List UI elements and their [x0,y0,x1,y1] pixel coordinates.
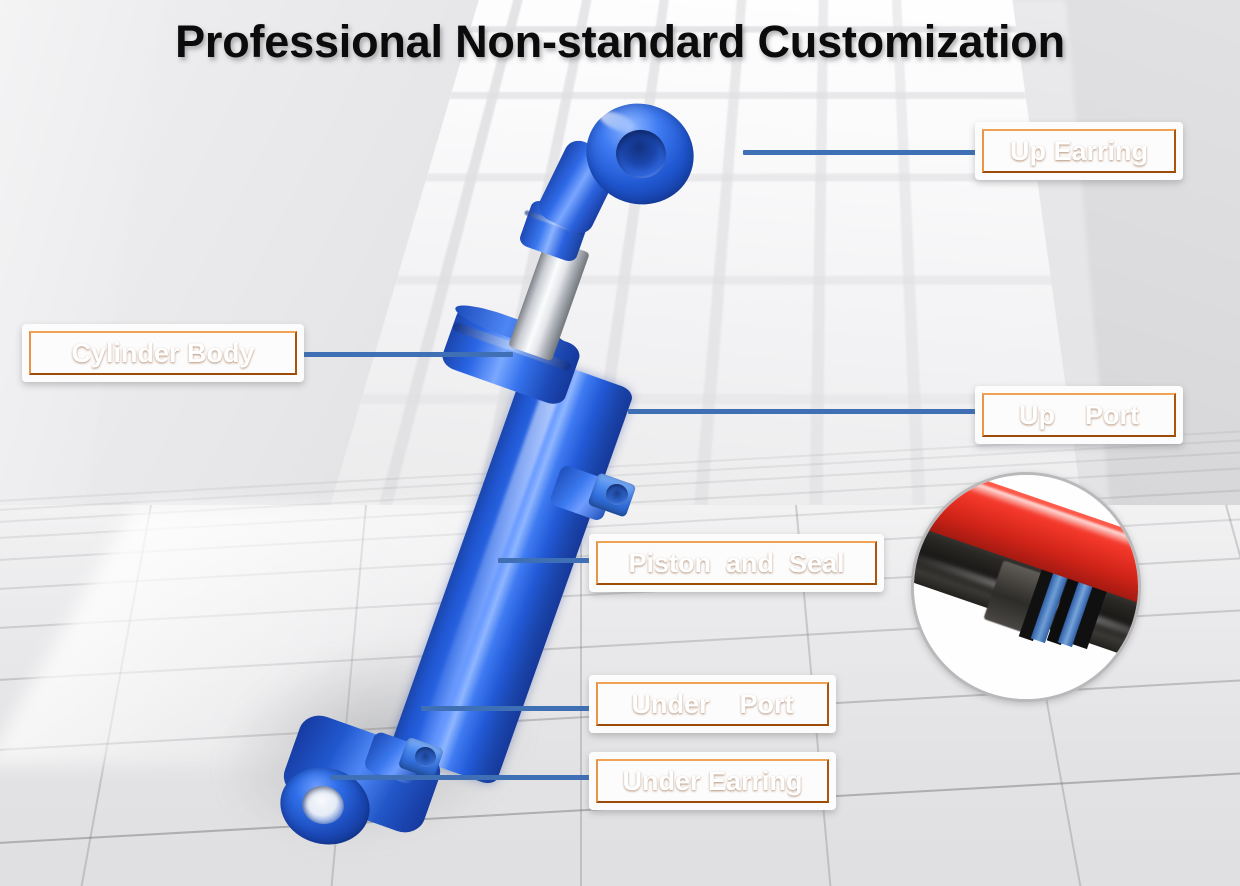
callout-under-port-label: Under Port [596,682,829,726]
callout-up-port-label: Up Port [982,393,1176,437]
piston-and-seal-closeup [911,472,1141,702]
leader-line-cylinder-body [293,352,513,357]
callout-under-earring-label: Under Earring [596,759,829,803]
leader-line-up-port [628,409,978,414]
leader-line-up-earring [743,150,978,155]
callout-under-port[interactable]: Under Port [589,675,836,733]
chrome-piston-rod [508,238,590,362]
ceiling-beam-vertical [891,0,925,505]
callout-up-earring-label: Up Earring [982,129,1176,173]
callout-up-port[interactable]: Up Port [975,386,1183,444]
leader-line-piston-seal [498,558,595,563]
callout-piston-and-seal-label: Piston and Seal [596,541,877,585]
floor-tile-seam-vertical [1225,505,1240,886]
leader-line-under-earring [330,775,595,780]
callout-cylinder-body-label: Cylinder Body [29,331,297,375]
leader-line-under-port [421,706,595,711]
callout-cylinder-body[interactable]: Cylinder Body [22,324,304,382]
product-infographic: Up Earring Cylinder Body Up Port Piston … [0,0,1240,886]
callout-piston-and-seal[interactable]: Piston and Seal [589,534,884,592]
callout-up-earring[interactable]: Up Earring [975,122,1183,180]
callout-under-earring[interactable]: Under Earring [589,752,836,810]
page-title: Professional Non-standard Customization [0,16,1240,68]
